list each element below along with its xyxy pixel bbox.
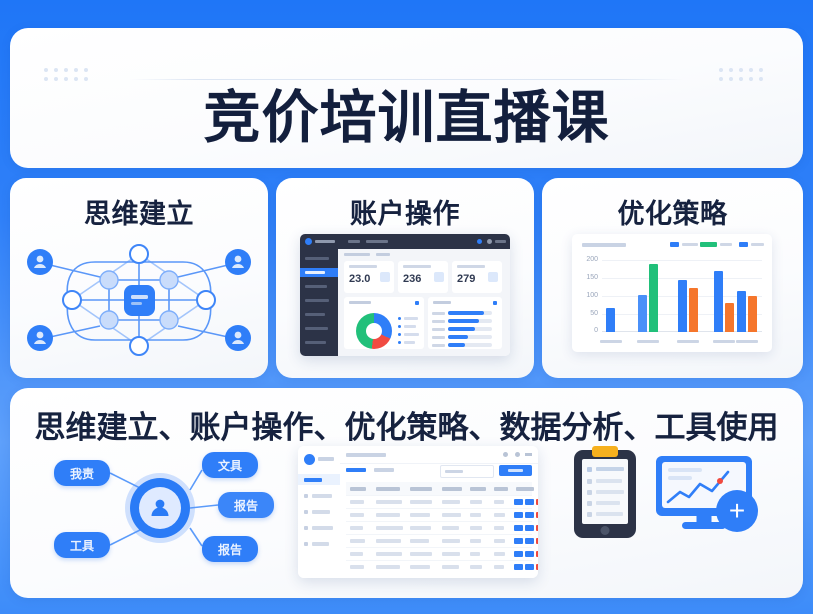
data-table [346,482,532,574]
admin-table-mockup [298,446,538,578]
dot-grid-right-icon [719,68,769,86]
stat-value: 279 [457,273,475,285]
table-mockup-illustration [298,446,538,586]
bar-chart-mockup-image: 200 150 100 50 0 [542,232,803,370]
feature-card-title: 优化策略 [542,192,803,231]
feature-card-title: 思维建立 [10,192,268,231]
donut-chart [356,313,392,349]
plus-badge-icon[interactable]: + [716,490,758,532]
mindmap-pill[interactable]: 报告 [218,492,274,518]
dashboard-mockup: 23.0 236 279 [300,234,510,356]
donut-chart-panel [344,297,424,349]
clipboard-page [582,459,628,524]
header-divider [130,79,683,80]
y-tick: 50 [590,310,598,317]
x-tick-label [713,340,735,343]
bottom-headline: 思维建立、账户操作、优化策略、数据分析、工具使用 [10,402,803,447]
mindmap-illustration: 我责 工具 文具 报告 报告 [32,446,284,586]
table-row[interactable] [346,534,532,548]
logo-icon [304,454,315,465]
clip-top-icon [592,446,618,457]
y-tick: 100 [586,292,598,299]
clipboard-home-button [601,526,610,535]
table-row[interactable] [346,547,532,561]
search-input[interactable] [440,465,494,478]
mindmap-pill[interactable]: 文具 [202,452,258,478]
x-tick-label [600,340,622,343]
table-row[interactable] [346,508,532,522]
tab-inactive[interactable] [374,468,394,472]
tab-active[interactable] [346,468,366,472]
header-card: 竞价培训直播课 [10,28,803,168]
dashboard-mockup-image: 23.0 236 279 [276,232,534,370]
stat-card: 236 [398,261,448,293]
feature-card-thinking[interactable]: 思维建立 [10,178,268,378]
y-tick: 0 [594,327,598,334]
table-row[interactable] [346,560,532,573]
mindmap-pill[interactable]: 工具 [54,532,110,558]
mindmap-pill[interactable]: 报告 [202,536,258,562]
y-tick: 150 [586,274,598,281]
stat-value: 23.0 [349,273,370,285]
x-tick-label [677,340,699,343]
mockup-topbar [300,234,510,249]
bar-group [714,271,734,332]
mockup-sidebar [298,446,341,578]
bar-list-panel [428,297,502,349]
mockup-content [340,446,538,578]
chart-plot-area: 200 150 100 50 0 [602,260,762,332]
stat-card: 23.0 [344,261,394,293]
feature-card-strategy[interactable]: 优化策略 200 150 100 50 0 [542,178,803,378]
bar-chart-panel: 200 150 100 50 0 [572,234,772,352]
bottom-card: 思维建立、账户操作、优化策略、数据分析、工具使用 我责 工具 文具 报告 报告 [10,388,803,598]
bar-group [737,291,757,332]
stat-value: 236 [403,273,421,285]
table-row[interactable] [346,495,532,509]
person-icon [130,478,190,538]
x-tick-label [736,340,758,343]
feature-card-account[interactable]: 账户操作 [276,178,534,378]
poster-stage: 竞价培训直播课 思维建立 [0,0,813,614]
dot-grid-left-icon [44,68,94,86]
query-button[interactable] [499,465,532,476]
legend-item [700,242,732,247]
tool-icons-illustration: + [558,446,798,586]
table-row[interactable] [346,521,532,535]
chart-title-placeholder [582,243,626,247]
mockup-header [340,446,538,464]
table-header-row [346,482,532,496]
x-tick-label [637,340,659,343]
legend-item [739,242,764,247]
mockup-content: 23.0 236 279 [338,249,510,356]
stat-card: 279 [452,261,502,293]
mindmap-pill[interactable]: 我责 [54,460,110,486]
feature-card-title: 账户操作 [276,192,534,231]
sidebar-active-item[interactable] [298,474,340,485]
y-tick: 200 [586,256,598,263]
legend-item [670,242,698,247]
bar-group [638,264,658,332]
mockup-sidebar [300,249,338,356]
bar-group [678,280,698,332]
page-title: 竞价培训直播课 [10,86,803,150]
bar-group [606,308,615,332]
clipboard-icon [574,450,636,538]
network-node-diagram-icon [10,232,268,370]
